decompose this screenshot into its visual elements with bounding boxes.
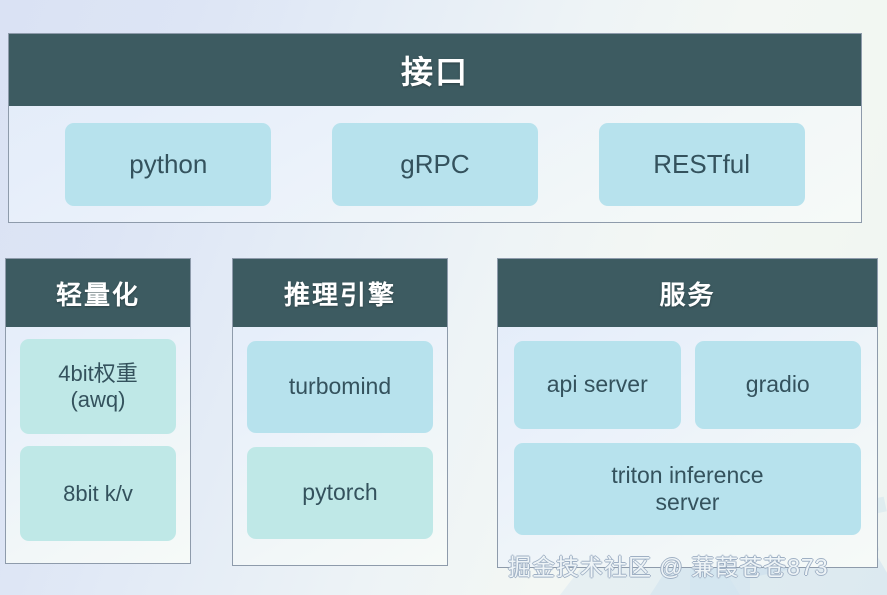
chip-triton-inference-server[interactable]: triton inference server (514, 443, 861, 535)
lightweight-card-title: 轻量化 (6, 259, 190, 327)
inference-engine-card: 推理引擎 turbomind pytorch (232, 258, 448, 566)
interface-card-body: python gRPC RESTful (9, 106, 861, 223)
diagram-canvas: 接口 python gRPC RESTful 轻量化 4bit权重 (awq) … (0, 0, 887, 595)
service-chip-row: api server gradio (514, 341, 861, 429)
inference-engine-card-body: turbomind pytorch (233, 327, 447, 565)
lightweight-card-body: 4bit权重 (awq) 8bit k/v (6, 327, 190, 563)
chip-gradio[interactable]: gradio (695, 341, 862, 429)
chip-restful[interactable]: RESTful (599, 123, 805, 206)
service-card: 服务 api server gradio triton inference se… (497, 258, 878, 568)
interface-card: 接口 python gRPC RESTful (8, 33, 862, 223)
chip-api-server[interactable]: api server (514, 341, 681, 429)
chip-turbomind[interactable]: turbomind (247, 341, 433, 433)
interface-card-title: 接口 (9, 34, 861, 106)
chip-python[interactable]: python (65, 123, 271, 206)
service-card-body: api server gradio triton inference serve… (498, 327, 877, 567)
chip-4bit-weight-awq[interactable]: 4bit权重 (awq) (20, 339, 176, 434)
chip-grpc[interactable]: gRPC (332, 123, 538, 206)
service-card-title: 服务 (498, 259, 877, 327)
lightweight-card: 轻量化 4bit权重 (awq) 8bit k/v (5, 258, 191, 564)
inference-engine-card-title: 推理引擎 (233, 259, 447, 327)
chip-pytorch[interactable]: pytorch (247, 447, 433, 539)
chip-8bit-kv[interactable]: 8bit k/v (20, 446, 176, 541)
